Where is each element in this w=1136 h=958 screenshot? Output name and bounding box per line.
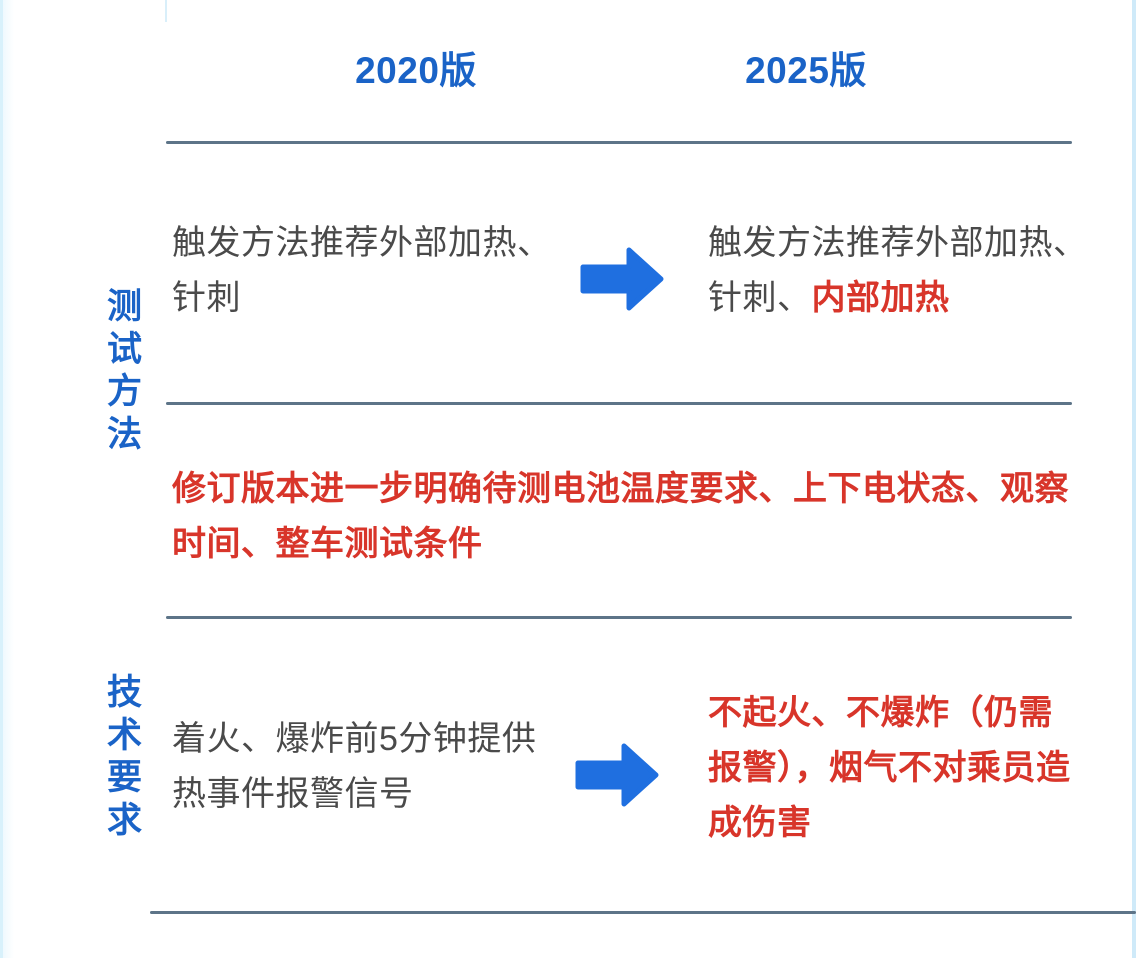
divider-row2-row3	[166, 616, 1072, 619]
row-safety-requirement-new-value: 不起火、不爆炸（仍需报警），烟气不对乘员造成伤害	[708, 686, 1080, 851]
table-header: 2020版 2025版	[166, 0, 1072, 143]
column-header-2020: 2020版	[256, 40, 576, 94]
divider-table-bottom	[150, 911, 1136, 914]
page-right-edge	[1132, 0, 1136, 958]
right-arrow-icon	[580, 246, 664, 312]
row-safety-requirement-old-value: 着火、爆炸前5分钟提供热事件报警信号	[172, 712, 564, 822]
divider-row1-row2	[166, 402, 1072, 405]
row-trigger-method-new-value: 触发方法推荐外部加热、针刺、内部加热	[708, 216, 1088, 326]
divider-under-header	[166, 141, 1072, 144]
right-arrow-icon	[575, 742, 659, 808]
row-trigger-method-old-value: 触发方法推荐外部加热、针刺	[172, 216, 564, 326]
category-label-tech-requirement: 技术要求	[92, 672, 158, 843]
row-trigger-method-new-highlight: 内部加热	[812, 279, 950, 317]
page-left-edge	[0, 0, 3, 958]
category-label-test-method: 测试方法	[92, 286, 158, 457]
column-header-2025: 2025版	[646, 40, 966, 94]
row-revision-note-text: 修订版本进一步明确待测电池温度要求、上下电状态、观察时间、整车测试条件	[172, 462, 1082, 572]
